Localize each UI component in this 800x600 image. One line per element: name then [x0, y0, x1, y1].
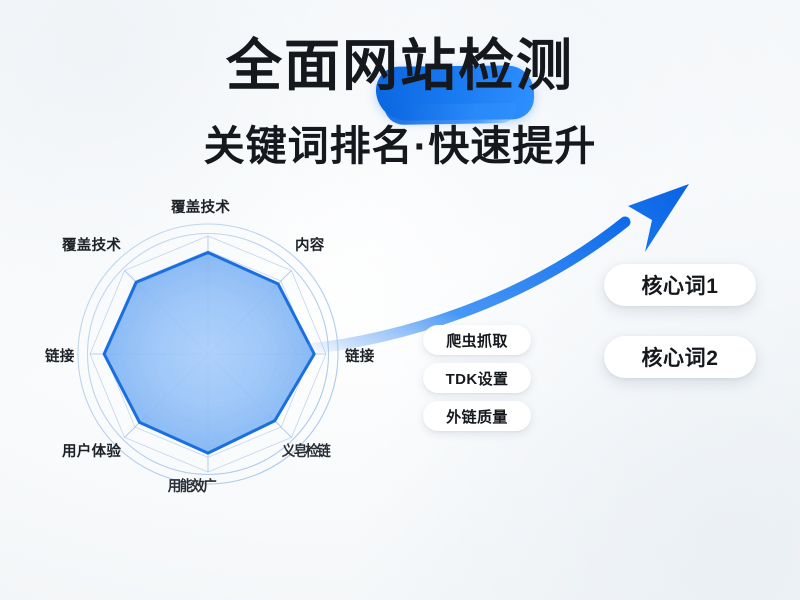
feature-pill-label: 爬虫抓取	[446, 330, 508, 351]
radar-label-top-left: 覆盖技术	[62, 234, 121, 255]
keyword-pill-2[interactable]: 核心词2	[604, 336, 756, 378]
radar-chart: 覆盖技术 内容 链接 义皂检链 用能效广 用户体验 链接 覆盖技术	[40, 190, 400, 510]
keyword-pill-label: 核心词1	[641, 270, 718, 300]
radar-label-top-right: 内容	[295, 234, 325, 255]
keyword-pill-1[interactable]: 核心词1	[604, 264, 756, 306]
radar-label-right: 链接	[345, 345, 375, 366]
title-part-after: 检测	[458, 34, 574, 97]
radar-label-top: 覆盖技术	[171, 196, 230, 217]
arrow-head	[628, 184, 689, 252]
radar-label-bottom-right: 义皂检链	[282, 440, 329, 461]
feature-pill-label: 外链质量	[446, 406, 508, 427]
title-part-before: 全面	[226, 34, 342, 97]
page-subtitle: 关键词排名·快速提升	[0, 112, 800, 172]
headline-block: 全面网站检测	[0, 36, 800, 95]
page-title: 全面网站检测	[226, 36, 574, 95]
radar-label-bottom: 用能效广	[168, 475, 215, 496]
feature-pill-tdk[interactable]: TDK设置	[423, 363, 531, 393]
feature-pill-label: TDK设置	[446, 368, 509, 389]
radar-label-left: 链接	[45, 345, 75, 366]
radar-label-bottom-left: 用户体验	[62, 440, 121, 461]
feature-pill-backlink[interactable]: 外链质量	[423, 401, 531, 431]
feature-pill-crawler[interactable]: 爬虫抓取	[423, 325, 531, 355]
title-part-highlight: 网站	[342, 34, 458, 97]
poster-canvas: 全面网站检测 关键词排名·快速提升	[0, 0, 800, 600]
keyword-pill-label: 核心词2	[641, 342, 718, 372]
